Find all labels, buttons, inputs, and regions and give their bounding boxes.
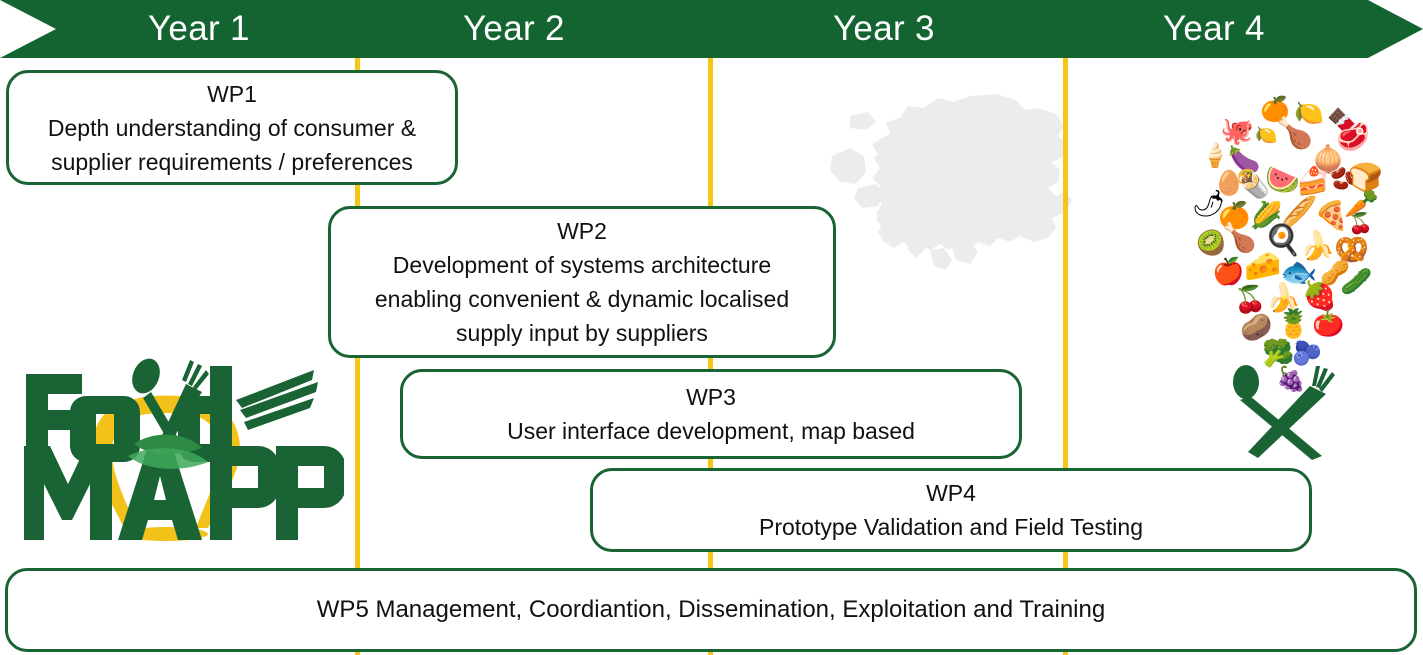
food-item-icon: 🍋	[1255, 126, 1277, 144]
food-item-icon: 🧀	[1244, 252, 1281, 282]
food-item-icon: 🍉	[1265, 166, 1300, 194]
spoon-icon	[1233, 365, 1322, 460]
foodmapp-logo	[14, 352, 344, 552]
food-item-icon: 🍒	[1234, 286, 1266, 312]
wp2-description: Development of systems architecture enab…	[375, 248, 789, 350]
wp4-title: WP4	[926, 476, 976, 510]
food-item-icon: 🍰	[1296, 168, 1330, 195]
work-package-box-wp4[interactable]: WP4 Prototype Validation and Field Testi…	[590, 468, 1312, 552]
food-item-icon: 🍓	[1302, 282, 1337, 310]
food-item-icon: 🥦	[1262, 340, 1294, 366]
food-item-icon: 🍕	[1314, 202, 1349, 230]
spoon-fork-icon	[1224, 364, 1344, 460]
food-item-icon: 🍦	[1200, 144, 1230, 168]
work-package-box-wp2[interactable]: WP2 Development of systems architecture …	[328, 206, 836, 358]
food-item-icon: 🍅	[1312, 310, 1344, 336]
wp4-description: Prototype Validation and Field Testing	[759, 510, 1143, 544]
food-item-icon: 🍗	[1276, 119, 1313, 149]
wp1-title: WP1	[207, 77, 257, 111]
food-collage-pin: 🍊🍋🍫🐙🍋🍗🥩🍦🍆🧅🥚🌯🍉🍰🫘🍞🌶🥕🍊🌽🥖🍕🍒🥝🍗🍳🍌🥨🍎🧀🐟🥜🥒🍒🍌🍓🥔🍍🍅🥦…	[1172, 92, 1400, 462]
wp5-description: WP5 Management, Coordiantion, Disseminat…	[317, 594, 1105, 626]
food-item-icon: 🍎	[1212, 258, 1244, 284]
food-item-icon: 🍒	[1348, 214, 1373, 234]
wp1-description: Depth understanding of consumer & suppli…	[48, 111, 416, 179]
wp3-description: User interface development, map based	[507, 414, 915, 448]
work-package-box-wp1[interactable]: WP1 Depth understanding of consumer & su…	[6, 70, 458, 185]
europe-map-background	[820, 92, 1120, 382]
work-package-box-wp3[interactable]: WP3 User interface development, map base…	[400, 369, 1022, 459]
food-item-icon: 🫐	[1292, 342, 1322, 366]
wp3-title: WP3	[686, 380, 736, 414]
timeline-diagram: Year 1 Year 2 Year 3 Year 4	[0, 0, 1423, 655]
food-item-icon: 🍍	[1276, 310, 1311, 338]
food-item-icon: 🍗	[1222, 224, 1257, 252]
food-item-icon: 🥒	[1340, 268, 1372, 294]
work-package-box-wp5[interactable]: WP5 Management, Coordiantion, Disseminat…	[5, 568, 1417, 652]
year-divider-3	[1063, 55, 1068, 655]
food-item-icon: 🐙	[1220, 118, 1254, 145]
wp2-title: WP2	[557, 214, 607, 248]
timeline-banner	[0, 0, 1423, 58]
food-item-icon: 🥔	[1240, 314, 1272, 340]
